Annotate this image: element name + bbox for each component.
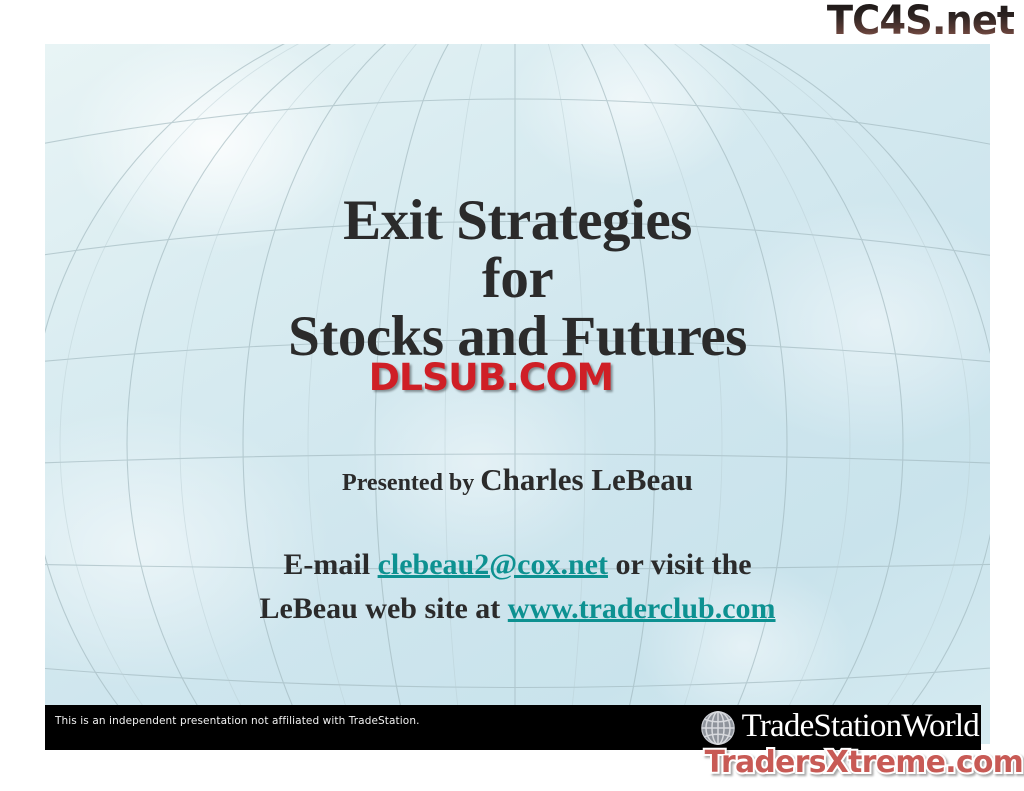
presenter-name: Charles LeBeau (480, 462, 693, 497)
email-line-suffix: or visit the (608, 548, 752, 581)
globe-icon (696, 709, 740, 747)
disclaimer-text: This is an independent presentation not … (55, 715, 420, 727)
email-label: E-mail (283, 548, 377, 581)
title-line-2: for (45, 250, 990, 308)
contact-line-email: E-mail clebeau2@cox.net or visit the (45, 543, 990, 587)
dlsub-com-watermark: DLSUB.COM (369, 359, 613, 396)
title-line-1: Exit Strategies (45, 192, 990, 250)
contact-line-website: LeBeau web site at www.traderclub.com (45, 587, 990, 631)
tradersxtreme-watermark: TradersXtreme.com (705, 748, 1024, 778)
footer-bar: This is an independent presentation not … (45, 705, 981, 750)
website-label: LeBeau web site at (259, 592, 507, 625)
contact-info: E-mail clebeau2@cox.net or visit the LeB… (45, 543, 990, 632)
website-link[interactable]: www.traderclub.com (508, 592, 776, 625)
page-title: Exit Strategies for Stocks and Futures (45, 192, 990, 366)
presenter-credit: Presented by Charles LeBeau (45, 462, 990, 498)
presentation-slide: Exit Strategies for Stocks and Futures D… (45, 44, 990, 744)
tc4s-net-logo-text: TC4S.net (827, 1, 1014, 41)
tradestationworld-wordmark: TradeStationWorld (742, 708, 979, 744)
dlsub-com-watermark-text: DLSUB.COM (369, 356, 613, 399)
tradestationworld-logo-text: TradeStationWorld (742, 710, 979, 743)
presented-by-label: Presented by (342, 470, 480, 496)
tc4s-net-logo: TC4S.net (828, 0, 1018, 44)
tradestationworld-logo: TradeStationWorld (696, 707, 979, 748)
email-link[interactable]: clebeau2@cox.net (378, 548, 608, 581)
